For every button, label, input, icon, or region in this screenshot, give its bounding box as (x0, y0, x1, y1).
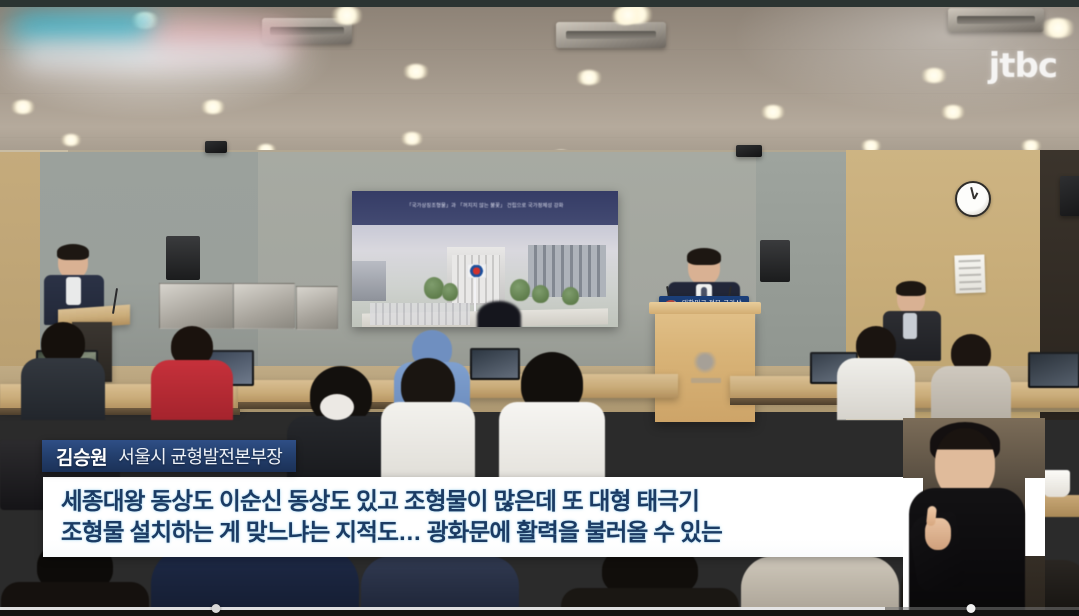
seoul-city-emblem-icon (693, 352, 717, 374)
projection-screen: 「국가상징조형물」과 「꺼지지 않는 불꽃」 건립으로 국가정체성 강화 (352, 191, 618, 327)
wall-speaker (166, 236, 200, 280)
podium (655, 310, 755, 422)
audience-head-silhouette (477, 301, 521, 327)
speaker-name: 김승원 (56, 443, 107, 470)
censored-blur-patch (12, 14, 157, 42)
ceiling-downlight (760, 105, 786, 119)
audience-member (20, 322, 106, 418)
ceiling-downlight (1040, 18, 1076, 38)
subtitle-caption-box: 세종대왕 동상도 이순신 동상도 있고 조형물이 많은데 또 대형 태극기 조형… (43, 477, 1030, 557)
ceiling-downlight (60, 134, 82, 146)
scrubber-trim-start-handle[interactable] (211, 604, 220, 613)
jtbc-network-logo: jtbc (989, 46, 1057, 86)
slide-title-text: 「국가상징조형물」과 「꺼지지 않는 불꽃」 건립으로 국가정체성 강화 (352, 202, 618, 209)
speaker-title: 서울시 균형발전본부장 (118, 443, 282, 469)
ceiling-downlight (200, 100, 226, 114)
ac-vent (948, 8, 1044, 32)
audience-member (836, 326, 916, 418)
coffee-cup (1042, 470, 1070, 497)
censored-blur-patch (18, 44, 288, 66)
ceiling-downlight (920, 68, 948, 83)
ceiling-downlight (612, 6, 644, 24)
wall-picture (233, 283, 295, 329)
wall-monitor (1060, 176, 1079, 216)
sign-language-interpreter (903, 418, 1045, 616)
ceiling-downlight (10, 100, 36, 114)
ceiling-projector (736, 145, 762, 157)
wall-picture (296, 286, 338, 330)
ceiling-downlight (575, 70, 603, 85)
audience-member (150, 326, 234, 418)
ceiling-projector (205, 141, 227, 153)
video-scrubber[interactable] (0, 605, 1079, 611)
audience-member (930, 334, 1012, 422)
wall-clock (955, 181, 991, 217)
laptop (1028, 352, 1079, 388)
letterbox-top-bar (0, 0, 1079, 7)
ceiling-downlight (400, 132, 424, 145)
wall-speaker (760, 240, 790, 282)
ceiling-downlight (940, 105, 966, 119)
wall-picture (159, 283, 233, 329)
video-player-stage: 「국가상징조형물」과 「꺼지지 않는 불꽃」 건립으로 국가정체성 강화 (0, 0, 1079, 616)
ceiling-downlight (330, 6, 364, 25)
speaker-name-banner: 김승원 서울시 균형발전본부장 (42, 440, 296, 472)
subtitle-line-2: 조형물 설치하는 게 맞느냐는 지적도… 광화문에 활력을 불러올 수 있는 (61, 517, 1030, 548)
subtitle-line-1: 세종대왕 동상도 이순신 동상도 있고 조형물이 많은데 또 대형 태극기 (61, 486, 1030, 517)
hair-tie (318, 394, 356, 424)
notice-paper (954, 254, 985, 293)
ac-vent (556, 22, 666, 48)
ceiling-downlight (402, 64, 430, 79)
scrubber-playhead-handle[interactable] (967, 604, 976, 613)
scrubber-progress (0, 607, 885, 610)
